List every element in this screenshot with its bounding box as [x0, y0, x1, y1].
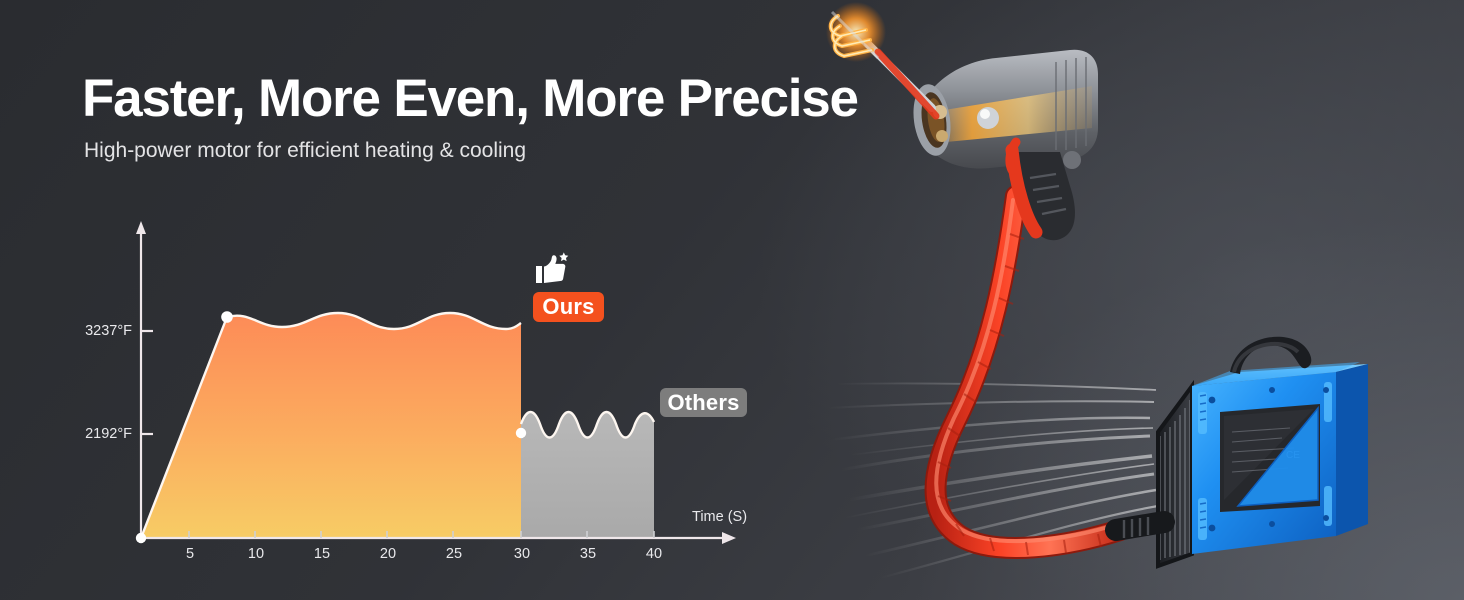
x-tick-label-5: 5 — [174, 546, 206, 562]
ours-badge: Ours — [533, 292, 604, 322]
ours-peak-point — [221, 311, 233, 323]
x-tick-label-10: 10 — [240, 546, 272, 562]
product-photo-group: CE — [820, 0, 1464, 600]
x-tick-label-35: 35 — [572, 546, 604, 562]
x-axis-title: Time (S) — [692, 509, 747, 525]
x-tick-label-15: 15 — [306, 546, 338, 562]
others-badge: Others — [660, 388, 747, 417]
red-braided-hose — [935, 196, 1164, 555]
y-tick-label-2192: 2192°F — [12, 426, 132, 442]
thumbs-up-star-icon — [532, 252, 572, 286]
others-peak-point — [516, 428, 526, 438]
x-tick-label-40: 40 — [638, 546, 670, 562]
ours-area — [141, 313, 521, 538]
origin-point — [136, 533, 146, 543]
y-tick-label-3237: 3237°F — [12, 323, 132, 339]
blue-power-unit: CE — [1158, 337, 1368, 566]
x-tick-label-20: 20 — [372, 546, 404, 562]
x-tick-label-30: 30 — [506, 546, 538, 562]
y-axis-arrow — [136, 221, 146, 234]
induction-heater-gun — [826, 2, 1098, 240]
others-oscillation-area — [521, 412, 654, 538]
x-tick-label-25: 25 — [438, 546, 470, 562]
promo-banner: Faster, More Even, More Precise High-pow… — [0, 0, 1464, 600]
x-axis-arrow — [722, 532, 736, 544]
